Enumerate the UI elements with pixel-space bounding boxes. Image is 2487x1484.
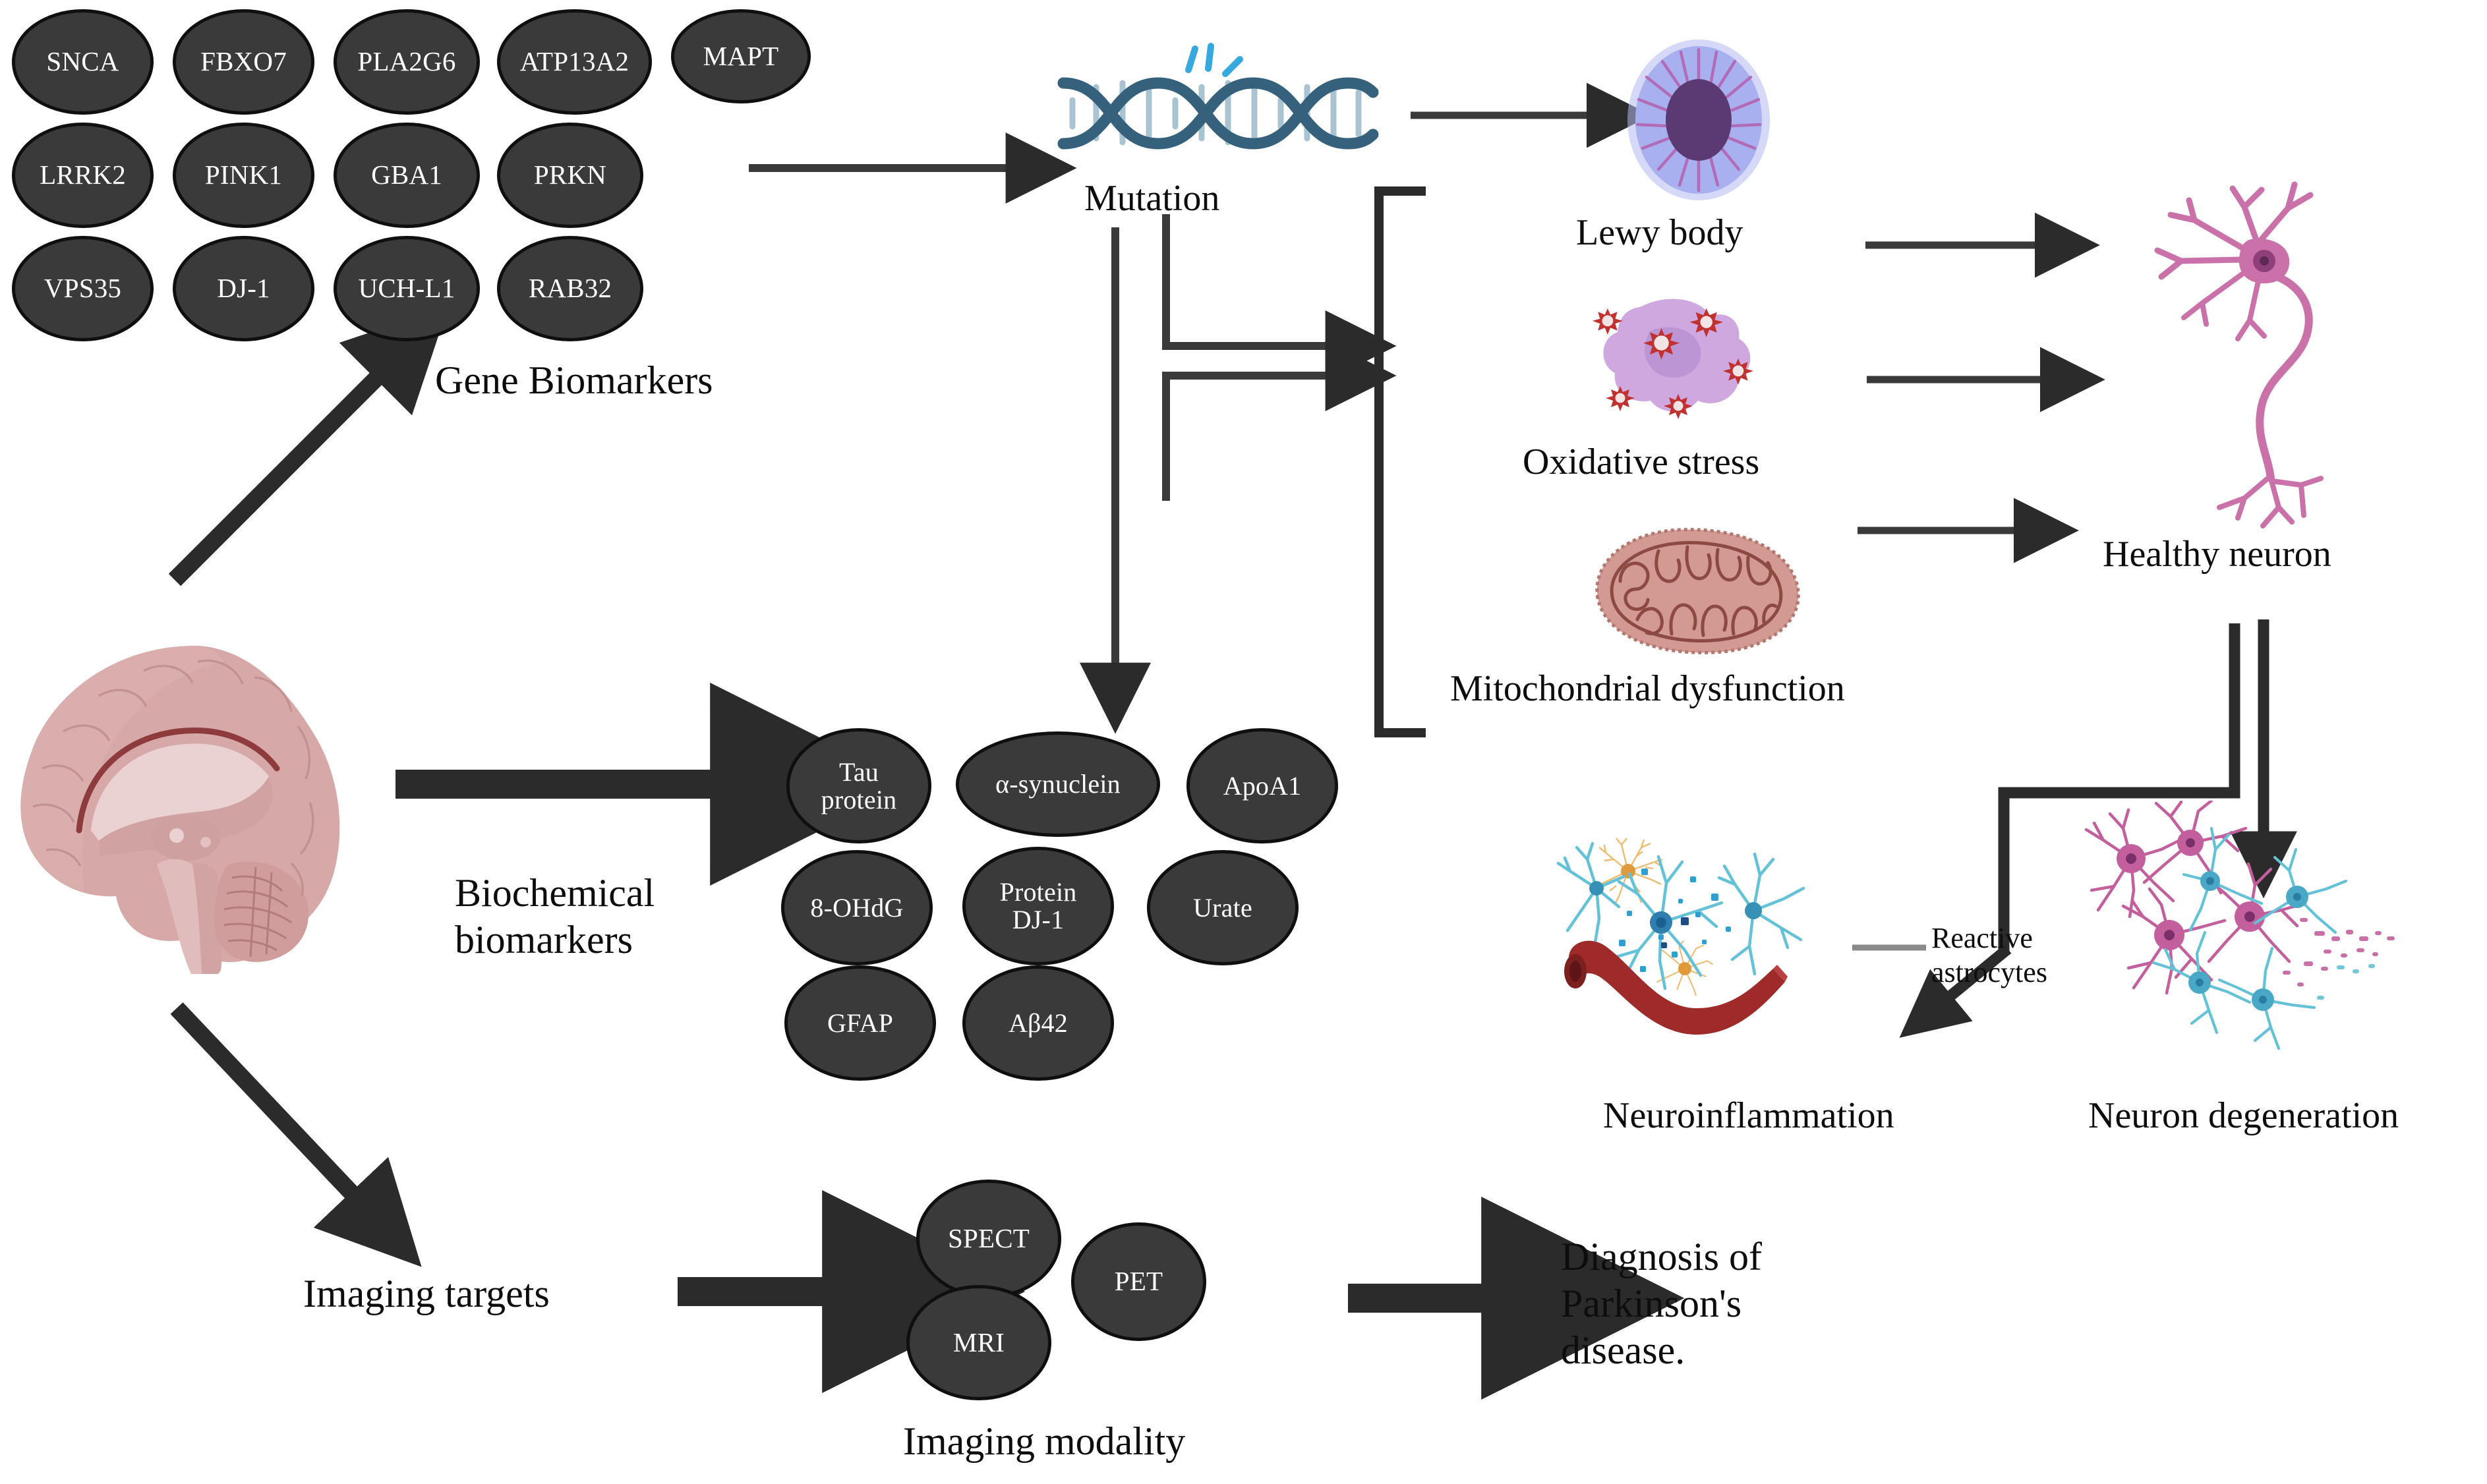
imaging-bubble-spect[interactable]: SPECT <box>916 1180 1061 1298</box>
bubble-label: α-synuclein <box>995 770 1121 798</box>
gene-bubble-snca[interactable]: SNCA <box>12 9 154 115</box>
gene-biomarkers-caption: Gene Biomarkers <box>435 357 713 404</box>
gene-bubble-pla2g6[interactable]: PLA2G6 <box>334 9 480 115</box>
brain-illustration <box>0 633 369 975</box>
biochem-bubble-urate[interactable]: Urate <box>1147 850 1299 965</box>
gene-bubble-atp13a2[interactable]: ATP13A2 <box>497 9 652 115</box>
arrow-elbow-lower <box>1166 376 1335 501</box>
bubble-label: DJ-1 <box>217 274 270 302</box>
lewy-body-illustration <box>1615 36 1783 204</box>
bubble-label: PINK1 <box>205 161 282 189</box>
biochemical-biomarkers-caption: Biochemical biomarkers <box>455 870 655 963</box>
bubble-label: Urate <box>1193 894 1252 922</box>
bubble-label: ApoA1 <box>1223 772 1302 800</box>
bubble-label: MRI <box>953 1328 1005 1357</box>
bubble-label: ATP13A2 <box>520 47 629 76</box>
gene-bubble-lrrk2[interactable]: LRRK2 <box>12 123 154 228</box>
bubble-label: MAPT <box>703 42 779 71</box>
biochem-bubble-apoa1[interactable]: ApoA1 <box>1186 728 1338 843</box>
biochem-bubble-8-ohdg[interactable]: 8-OHdG <box>781 850 933 965</box>
bubble-label: VPS35 <box>44 274 121 302</box>
lewy-body-label: Lewy body <box>1576 211 1743 254</box>
gene-bubble-gba1[interactable]: GBA1 <box>334 123 480 228</box>
pathology-bracket <box>1379 191 1426 733</box>
gene-bubble-pink1[interactable]: PINK1 <box>173 123 314 228</box>
bubble-label: Protein DJ-1 <box>1000 878 1077 934</box>
bubble-label: GBA1 <box>371 161 442 189</box>
bubble-label: 8-OHdG <box>810 894 903 922</box>
gene-bubble-dj-1[interactable]: DJ-1 <box>173 236 314 341</box>
imaging-bubble-pet[interactable]: PET <box>1071 1222 1206 1341</box>
bubble-label: FBXO7 <box>200 47 287 76</box>
neuroinflammation-illustration <box>1556 811 1865 1074</box>
oxidative-stress-label: Oxidative stress <box>1523 440 1759 484</box>
gene-bubble-rab32[interactable]: RAB32 <box>497 236 643 341</box>
bubble-label: SPECT <box>948 1224 1030 1253</box>
biochem-bubble-protein-dj-1[interactable]: Protein DJ-1 <box>962 847 1114 965</box>
imaging-modality-caption: Imaging modality <box>903 1418 1185 1465</box>
bubble-label: PLA2G6 <box>357 47 455 76</box>
bubble-label: SNCA <box>46 47 119 76</box>
gene-bubble-prkn[interactable]: PRKN <box>497 123 643 228</box>
bubble-label: LRRK2 <box>40 161 126 189</box>
bubble-label: Tau protein <box>821 758 897 814</box>
oxidative-stress-illustration <box>1569 290 1780 432</box>
neuron-degeneration-label: Neuron degeneration <box>2088 1094 2399 1137</box>
imaging-bubble-mri[interactable]: MRI <box>906 1285 1051 1400</box>
reactive-astrocytes-label: Reactive astrocytes <box>1931 921 2047 990</box>
bubble-label: UCH-L1 <box>359 274 455 302</box>
bubble-label: PRKN <box>534 161 606 189</box>
gene-bubble-mapt[interactable]: MAPT <box>671 9 811 103</box>
arrow-brain-to-genes <box>175 366 389 580</box>
mitochondrial-dysfunction-label: Mitochondrial dysfunction <box>1450 667 1845 710</box>
neuroinflammation-label: Neuroinflammation <box>1603 1094 1894 1137</box>
healthy-neuron-illustration <box>2146 178 2409 547</box>
arrow-brain-to-imaging <box>177 1008 364 1206</box>
healthy-neuron-label: Healthy neuron <box>2103 532 2331 576</box>
biochem-bubble--synuclein[interactable]: α-synuclein <box>956 731 1160 837</box>
bubble-label: Aβ42 <box>1009 1010 1068 1037</box>
imaging-targets-caption: Imaging targets <box>303 1270 550 1317</box>
diagram-canvas: Mutation Lewy body <box>0 0 2487 1484</box>
bubble-label: PET <box>1115 1267 1163 1296</box>
mutation-label: Mutation <box>1084 177 1219 220</box>
gene-bubble-vps35[interactable]: VPS35 <box>12 236 154 341</box>
bubble-label: GFAP <box>827 1010 893 1037</box>
dna-helix-icon <box>1045 40 1388 171</box>
biochem-bubble-a-42[interactable]: Aβ42 <box>962 965 1114 1081</box>
biochem-bubble-gfap[interactable]: GFAP <box>784 965 936 1081</box>
bubble-label: RAB32 <box>529 274 612 302</box>
gene-bubble-uch-l1[interactable]: UCH-L1 <box>334 236 480 341</box>
arrow-elbow-upper <box>1166 214 1335 346</box>
mitochondrion-illustration <box>1582 521 1809 662</box>
gene-bubble-fbxo7[interactable]: FBXO7 <box>173 9 314 115</box>
biochem-bubble-tau-protein[interactable]: Tau protein <box>786 728 931 843</box>
neuron-degeneration-illustration <box>2080 801 2436 1064</box>
diagnosis-text: Diagnosis of Parkinson's disease. <box>1561 1234 1762 1373</box>
